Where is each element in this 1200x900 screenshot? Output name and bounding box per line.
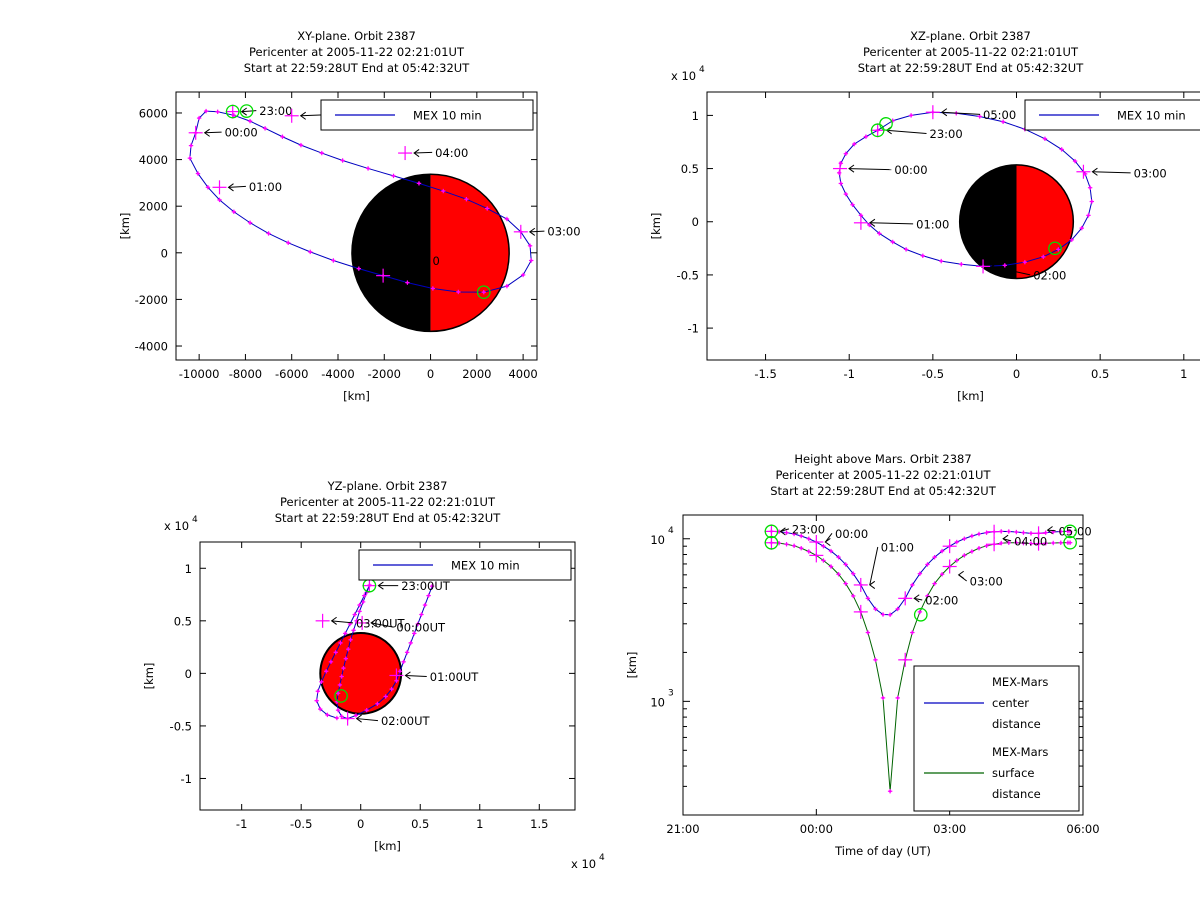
- annotation-arrow: [242, 108, 257, 115]
- y-axis-multiplier: x 10: [164, 519, 189, 533]
- sample-marker: [1059, 541, 1063, 545]
- x-tick-label: 2000: [462, 367, 491, 381]
- legend[interactable]: MEX 10 min: [321, 100, 533, 130]
- x-tick-label: -1.5: [754, 367, 776, 381]
- sample-marker: [970, 534, 974, 538]
- data-layer: [314, 583, 434, 721]
- hour-marker-0300UT: [316, 614, 330, 628]
- sample-marker: [1007, 529, 1011, 533]
- sample-marker: [320, 151, 324, 155]
- annotation-arrow: [959, 571, 967, 581]
- y-axis-multiplier: x 10: [671, 69, 696, 83]
- sample-marker: [529, 258, 533, 262]
- x-tick-label: -4000: [321, 367, 354, 381]
- mars-center-label: 0: [433, 254, 440, 268]
- sample-marker: [401, 660, 405, 664]
- plot-subtitle-startend: Start at 22:59:28UT End at 05:42:32UT: [244, 61, 470, 75]
- sample-marker: [1003, 263, 1007, 267]
- y-tick-label: 0.5: [681, 162, 699, 176]
- panel-height-above-mars: Height above Mars. Orbit 2387Pericenter …: [600, 450, 1200, 900]
- annotation-arrow: [992, 263, 1030, 275]
- panel-yz-plane: YZ-plane. Orbit 2387Pericenter at 2005-1…: [0, 450, 600, 900]
- sample-marker: [909, 113, 913, 117]
- sample-marker: [1051, 541, 1055, 545]
- y-axis-label: [km]: [142, 663, 156, 690]
- sample-marker: [844, 151, 848, 155]
- sample-marker: [839, 181, 843, 185]
- sample-marker: [875, 128, 879, 132]
- hour-marker-0500: [926, 105, 940, 119]
- annotation-arrow: [301, 112, 324, 119]
- hour-label: 00:00: [225, 126, 258, 140]
- sample-marker: [331, 258, 335, 262]
- x-tick-label: 0.5: [1091, 367, 1109, 381]
- y-tick-exponent: 3: [668, 688, 674, 698]
- plot-title: XY-plane. Orbit 2387: [297, 29, 416, 43]
- x-axis-label: Time of day (UT): [834, 844, 931, 858]
- annotation-arrow: [914, 595, 922, 602]
- sample-marker: [852, 142, 856, 146]
- y-axis-label: [km]: [625, 652, 639, 679]
- hour-label: 01:00: [881, 540, 914, 554]
- hour-label: 04:00: [1014, 534, 1047, 548]
- legend[interactable]: MEX-MarscenterdistanceMEX-Marssurfacedis…: [914, 666, 1079, 811]
- x-tick-label: -6000: [275, 367, 308, 381]
- hour-marker: [898, 591, 912, 605]
- sample-marker: [299, 143, 303, 147]
- hour-marker: [987, 525, 1001, 539]
- endpoint-circle: [871, 124, 883, 136]
- annotation-arrow: [357, 715, 378, 722]
- y-tick-label: 4000: [139, 153, 168, 167]
- sample-marker: [850, 203, 854, 207]
- hour-marker: [854, 578, 868, 592]
- y-tick-label: 10: [650, 533, 665, 547]
- y-tick-label: 0: [185, 667, 192, 681]
- yz-plane-svg: YZ-plane. Orbit 2387Pericenter at 2005-1…: [0, 450, 600, 900]
- mars-body: [960, 165, 1074, 279]
- sample-marker: [1001, 120, 1005, 124]
- sample-marker: [1080, 226, 1084, 230]
- annotation-arrow: [378, 582, 398, 589]
- sample-marker: [978, 114, 982, 118]
- y-tick-label: -2000: [135, 293, 168, 307]
- y-tick-label: 1: [185, 562, 192, 576]
- data-layer: [837, 110, 1094, 279]
- x-tick-label: 0: [357, 817, 364, 831]
- sample-marker: [977, 532, 981, 536]
- sample-marker: [280, 135, 284, 139]
- legend-label: distance: [992, 787, 1041, 801]
- legend-box: [1025, 100, 1200, 130]
- sample-marker: [1023, 260, 1027, 264]
- y-tick-label: 0: [161, 246, 168, 260]
- sample-marker: [891, 119, 895, 123]
- sample-marker: [1043, 137, 1047, 141]
- sample-marker: [799, 546, 803, 550]
- x-tick-label: 0: [1013, 367, 1020, 381]
- sample-marker: [895, 696, 899, 700]
- legend-label: MEX 10 min: [451, 559, 520, 573]
- sample-marker: [977, 546, 981, 550]
- annotation-arrow: [825, 533, 832, 545]
- mars-body: [352, 174, 509, 331]
- y-axis-label: [km]: [118, 213, 132, 240]
- sample-marker: [426, 593, 430, 597]
- panel-xy-plane: XY-plane. Orbit 2387Pericenter at 2005-1…: [0, 0, 600, 450]
- hour-label: 04:00: [435, 146, 468, 160]
- hour-marker-0300: [1076, 165, 1090, 179]
- hour-label: 02:00UT: [381, 714, 431, 728]
- y-tick-label: -1: [688, 322, 699, 336]
- sample-marker: [877, 231, 881, 235]
- y-tick-exponent: 4: [668, 526, 674, 536]
- plot-subtitle-startend: Start at 22:59:28UT End at 05:42:32UT: [770, 484, 996, 498]
- y-tick-label: 6000: [139, 106, 168, 120]
- hour-label: 23:00: [930, 127, 963, 141]
- plot-frame: [707, 92, 1200, 360]
- annotation-arrow: [1003, 535, 1011, 542]
- sample-marker: [959, 262, 963, 266]
- legend-label: distance: [992, 717, 1041, 731]
- sample-marker: [409, 641, 413, 645]
- sample-marker: [1070, 238, 1074, 242]
- hour-label: 03:00UT: [356, 616, 406, 630]
- endpoint-circle: [880, 118, 892, 130]
- x-tick-label: -1: [843, 367, 854, 381]
- annotation-arrow: [229, 184, 246, 191]
- sample-marker: [248, 119, 252, 123]
- sample-marker: [1023, 127, 1027, 131]
- x-tick-label: 1: [1180, 367, 1187, 381]
- hour-label: 03:00: [1134, 166, 1167, 180]
- sample-marker: [981, 264, 985, 268]
- sample-marker: [844, 192, 848, 196]
- x-tick-label: -8000: [229, 367, 262, 381]
- sample-marker: [263, 126, 267, 130]
- x-tick-label: -0.5: [290, 817, 312, 831]
- sample-marker: [921, 254, 925, 258]
- sample-marker: [1073, 159, 1077, 163]
- mars-day-side: [431, 174, 510, 331]
- hour-marker: [898, 653, 912, 667]
- x-axis-label: [km]: [374, 839, 401, 853]
- x-tick-label: 00:00: [800, 822, 833, 836]
- sample-marker: [867, 223, 871, 227]
- sample-marker: [419, 612, 423, 616]
- orbit-track: [839, 112, 1092, 266]
- sample-marker: [188, 156, 192, 160]
- legend[interactable]: MEX 10 min: [359, 550, 571, 580]
- sample-marker: [1088, 186, 1092, 190]
- hour-label: 05:00: [983, 108, 1016, 122]
- sample-marker: [910, 630, 914, 634]
- y-axis-label: [km]: [649, 213, 663, 240]
- sample-marker: [335, 716, 339, 720]
- sample-marker: [1090, 199, 1094, 203]
- hour-label: 00:00: [835, 527, 868, 541]
- hour-marker-0100: [854, 216, 868, 230]
- sample-marker: [215, 110, 219, 114]
- sample-marker: [266, 231, 270, 235]
- sample-marker: [1059, 147, 1063, 151]
- annotation-arrow: [780, 528, 788, 535]
- sample-marker: [970, 549, 974, 553]
- y-tick-label: 1: [692, 109, 699, 123]
- annotation-arrow: [414, 149, 432, 156]
- sample-marker: [839, 161, 843, 165]
- sample-marker: [837, 171, 841, 175]
- sample-marker: [881, 696, 885, 700]
- hour-marker-0400: [398, 146, 412, 160]
- y-axis-multiplier-exponent: 4: [699, 65, 705, 75]
- y-tick-label: 2000: [139, 200, 168, 214]
- x-tick-label: 0.5: [411, 817, 429, 831]
- sample-marker: [939, 259, 943, 263]
- hour-marker-2300UT: [362, 579, 376, 593]
- x-axis-label: [km]: [343, 389, 370, 403]
- legend[interactable]: MEX 10 min: [1025, 100, 1200, 130]
- sample-marker: [423, 603, 427, 607]
- hour-label: 23:00UT: [401, 579, 451, 593]
- hour-marker: [854, 605, 868, 619]
- sample-marker: [314, 698, 318, 702]
- annotation-arrow: [849, 165, 891, 172]
- x-tick-label: 4000: [508, 367, 537, 381]
- y-tick-label: -0.5: [170, 719, 192, 733]
- sample-marker: [918, 610, 922, 614]
- x-tick-label: -2000: [368, 367, 401, 381]
- plot-subtitle-pericenter: Pericenter at 2005-11-22 02:21:01UT: [249, 45, 465, 59]
- legend-label: MEX 10 min: [1117, 109, 1186, 123]
- annotation-layer: 23:0000:0001:0002:0003:0005:00: [833, 105, 1167, 282]
- sample-marker: [391, 174, 395, 178]
- hour-label: 02:00: [1033, 268, 1066, 282]
- hour-marker: [809, 535, 823, 549]
- mars-night-side: [960, 165, 1017, 279]
- sample-marker: [340, 158, 344, 162]
- sample-marker: [792, 544, 796, 548]
- y-axis-multiplier-exponent: 4: [192, 515, 198, 525]
- hour-marker-0200: [976, 259, 990, 273]
- hour-marker-0000: [833, 162, 847, 176]
- x-tick-label: -0.5: [922, 367, 944, 381]
- endpoint-circle: [1049, 242, 1061, 254]
- plot-subtitle-pericenter: Pericenter at 2005-11-22 02:21:01UT: [863, 45, 1079, 59]
- plot-subtitle-pericenter: Pericenter at 2005-11-22 02:21:01UT: [280, 495, 496, 509]
- plot-title: YZ-plane. Orbit 2387: [327, 479, 448, 493]
- y-tick-label: 0: [692, 215, 699, 229]
- sample-marker: [891, 240, 895, 244]
- sample-marker: [807, 537, 811, 541]
- sample-marker: [807, 549, 811, 553]
- legend-label: MEX-Mars: [992, 745, 1048, 759]
- hour-marker-0100: [213, 180, 227, 194]
- hour-label: 03:00: [970, 574, 1003, 588]
- y-tick-label: -4000: [135, 340, 168, 354]
- legend-label: surface: [992, 766, 1035, 780]
- y-tick-label: 10: [650, 695, 665, 709]
- hour-marker-0000: [189, 126, 203, 140]
- mars-day-side: [1017, 165, 1074, 279]
- sample-marker: [955, 540, 959, 544]
- hour-label: 00:00: [894, 163, 927, 177]
- hour-label: 02:00: [925, 594, 958, 608]
- mars-night-side: [352, 174, 431, 331]
- plot-subtitle-startend: Start at 22:59:28UT End at 05:42:32UT: [275, 511, 501, 525]
- y-tick-label: -1: [181, 772, 192, 786]
- sample-marker: [1041, 255, 1045, 259]
- sample-marker: [189, 143, 193, 147]
- x-tick-label: -1: [236, 817, 247, 831]
- annotation-arrow: [887, 127, 927, 134]
- sample-marker: [859, 213, 863, 217]
- hour-marker: [809, 548, 823, 562]
- annotation-arrow: [405, 672, 426, 679]
- sample-marker: [784, 542, 788, 546]
- sample-marker: [1083, 172, 1087, 176]
- sample-marker: [866, 630, 870, 634]
- x-tick-label: -10000: [179, 367, 220, 381]
- x-tick-label: 0: [427, 367, 434, 381]
- hour-label: 23:00: [792, 522, 825, 536]
- sample-marker: [864, 134, 868, 138]
- y-tick-label: 0.5: [174, 614, 192, 628]
- hour-label: 01:00: [249, 180, 282, 194]
- x-tick-label: 21:00: [666, 822, 699, 836]
- hour-label: 01:00: [916, 217, 949, 231]
- x-axis-label: [km]: [957, 389, 984, 403]
- sample-marker: [308, 250, 312, 254]
- legend-label: MEX 10 min: [413, 109, 482, 123]
- sample-marker: [1056, 247, 1060, 251]
- sample-marker: [366, 166, 370, 170]
- annotation-arrow: [1092, 168, 1130, 175]
- sample-marker: [1068, 540, 1072, 544]
- sample-marker: [316, 689, 320, 693]
- x-tick-label: 03:00: [933, 822, 966, 836]
- sample-marker: [888, 789, 892, 793]
- x-tick-label: 1: [476, 817, 483, 831]
- sample-marker: [1086, 213, 1090, 217]
- sample-marker: [873, 658, 877, 662]
- xy-plane-svg: XY-plane. Orbit 2387Pericenter at 2005-1…: [0, 0, 600, 450]
- annotation-arrow: [870, 219, 913, 226]
- height-above-mars-svg: Height above Mars. Orbit 2387Pericenter …: [600, 450, 1200, 900]
- sample-marker: [962, 537, 966, 541]
- annotation-arrow: [942, 109, 980, 116]
- hour-label: 01:00UT: [430, 670, 480, 684]
- sample-marker: [405, 650, 409, 654]
- sample-marker: [286, 241, 290, 245]
- annotation-arrow: [870, 547, 878, 589]
- sample-marker: [357, 609, 361, 613]
- plot-title: XZ-plane. Orbit 2387: [910, 29, 1031, 43]
- hour-marker-2300: [871, 123, 885, 137]
- mars-disc: [320, 633, 401, 714]
- sample-marker: [851, 594, 855, 598]
- plot-subtitle-pericenter: Pericenter at 2005-11-22 02:21:01UT: [776, 468, 992, 482]
- x-axis-multiplier: x 10: [571, 857, 596, 871]
- sample-marker: [875, 128, 879, 132]
- hour-marker: [943, 539, 957, 553]
- sample-marker: [904, 247, 908, 251]
- hour-label: 03:00: [547, 225, 580, 239]
- x-tick-label: 1.5: [530, 817, 548, 831]
- plot-subtitle-startend: Start at 22:59:28UT End at 05:42:32UT: [858, 61, 1084, 75]
- legend-label: MEX-Mars: [992, 675, 1048, 689]
- plot-title: Height above Mars. Orbit 2387: [794, 452, 971, 466]
- legend-label: center: [992, 696, 1029, 710]
- hour-marker: [987, 537, 1001, 551]
- sample-marker: [931, 110, 935, 114]
- x-tick-label: 06:00: [1066, 822, 1099, 836]
- mars-body: [320, 633, 401, 714]
- y-tick-label: -0.5: [677, 268, 699, 282]
- sample-marker: [954, 111, 958, 115]
- annotation-arrow: [205, 129, 222, 136]
